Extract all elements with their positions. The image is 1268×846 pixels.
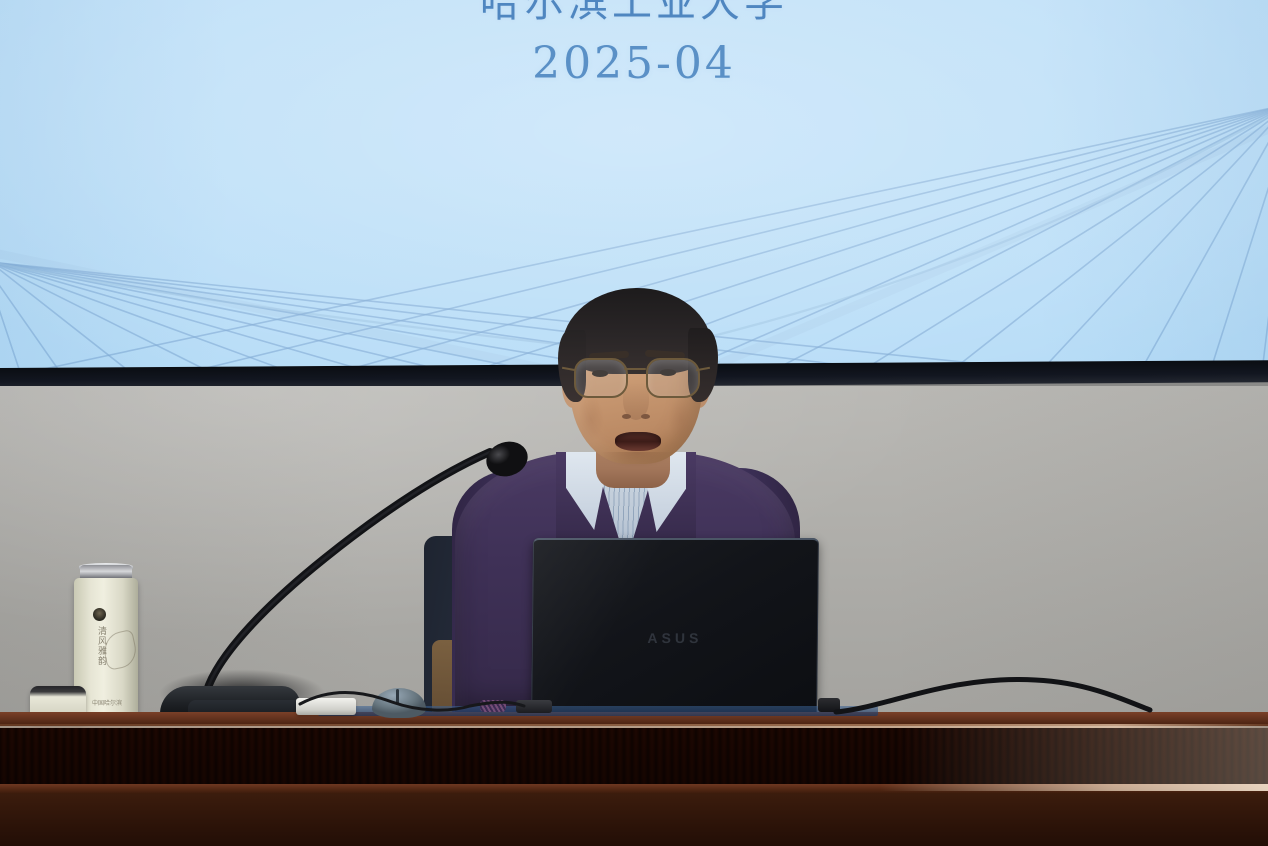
desk-apron [0,794,1268,846]
desk-rail-gloss [880,784,1268,791]
cheek-left [578,396,604,442]
desk-cables [0,660,1268,730]
lecture-desk [0,712,1268,846]
nostril-right [641,414,650,419]
desk-fluted-panel [0,728,1268,786]
chin-shadow [600,452,674,468]
thermos-emblem [93,608,106,621]
lecture-photo-scene: 哈尔滨工业大学 2025-04 [0,0,1268,846]
lens-left [574,358,628,398]
nostril-left [622,414,631,419]
cheek-right [668,396,694,442]
mouth-speaking [615,432,661,451]
lens-right [646,358,700,398]
